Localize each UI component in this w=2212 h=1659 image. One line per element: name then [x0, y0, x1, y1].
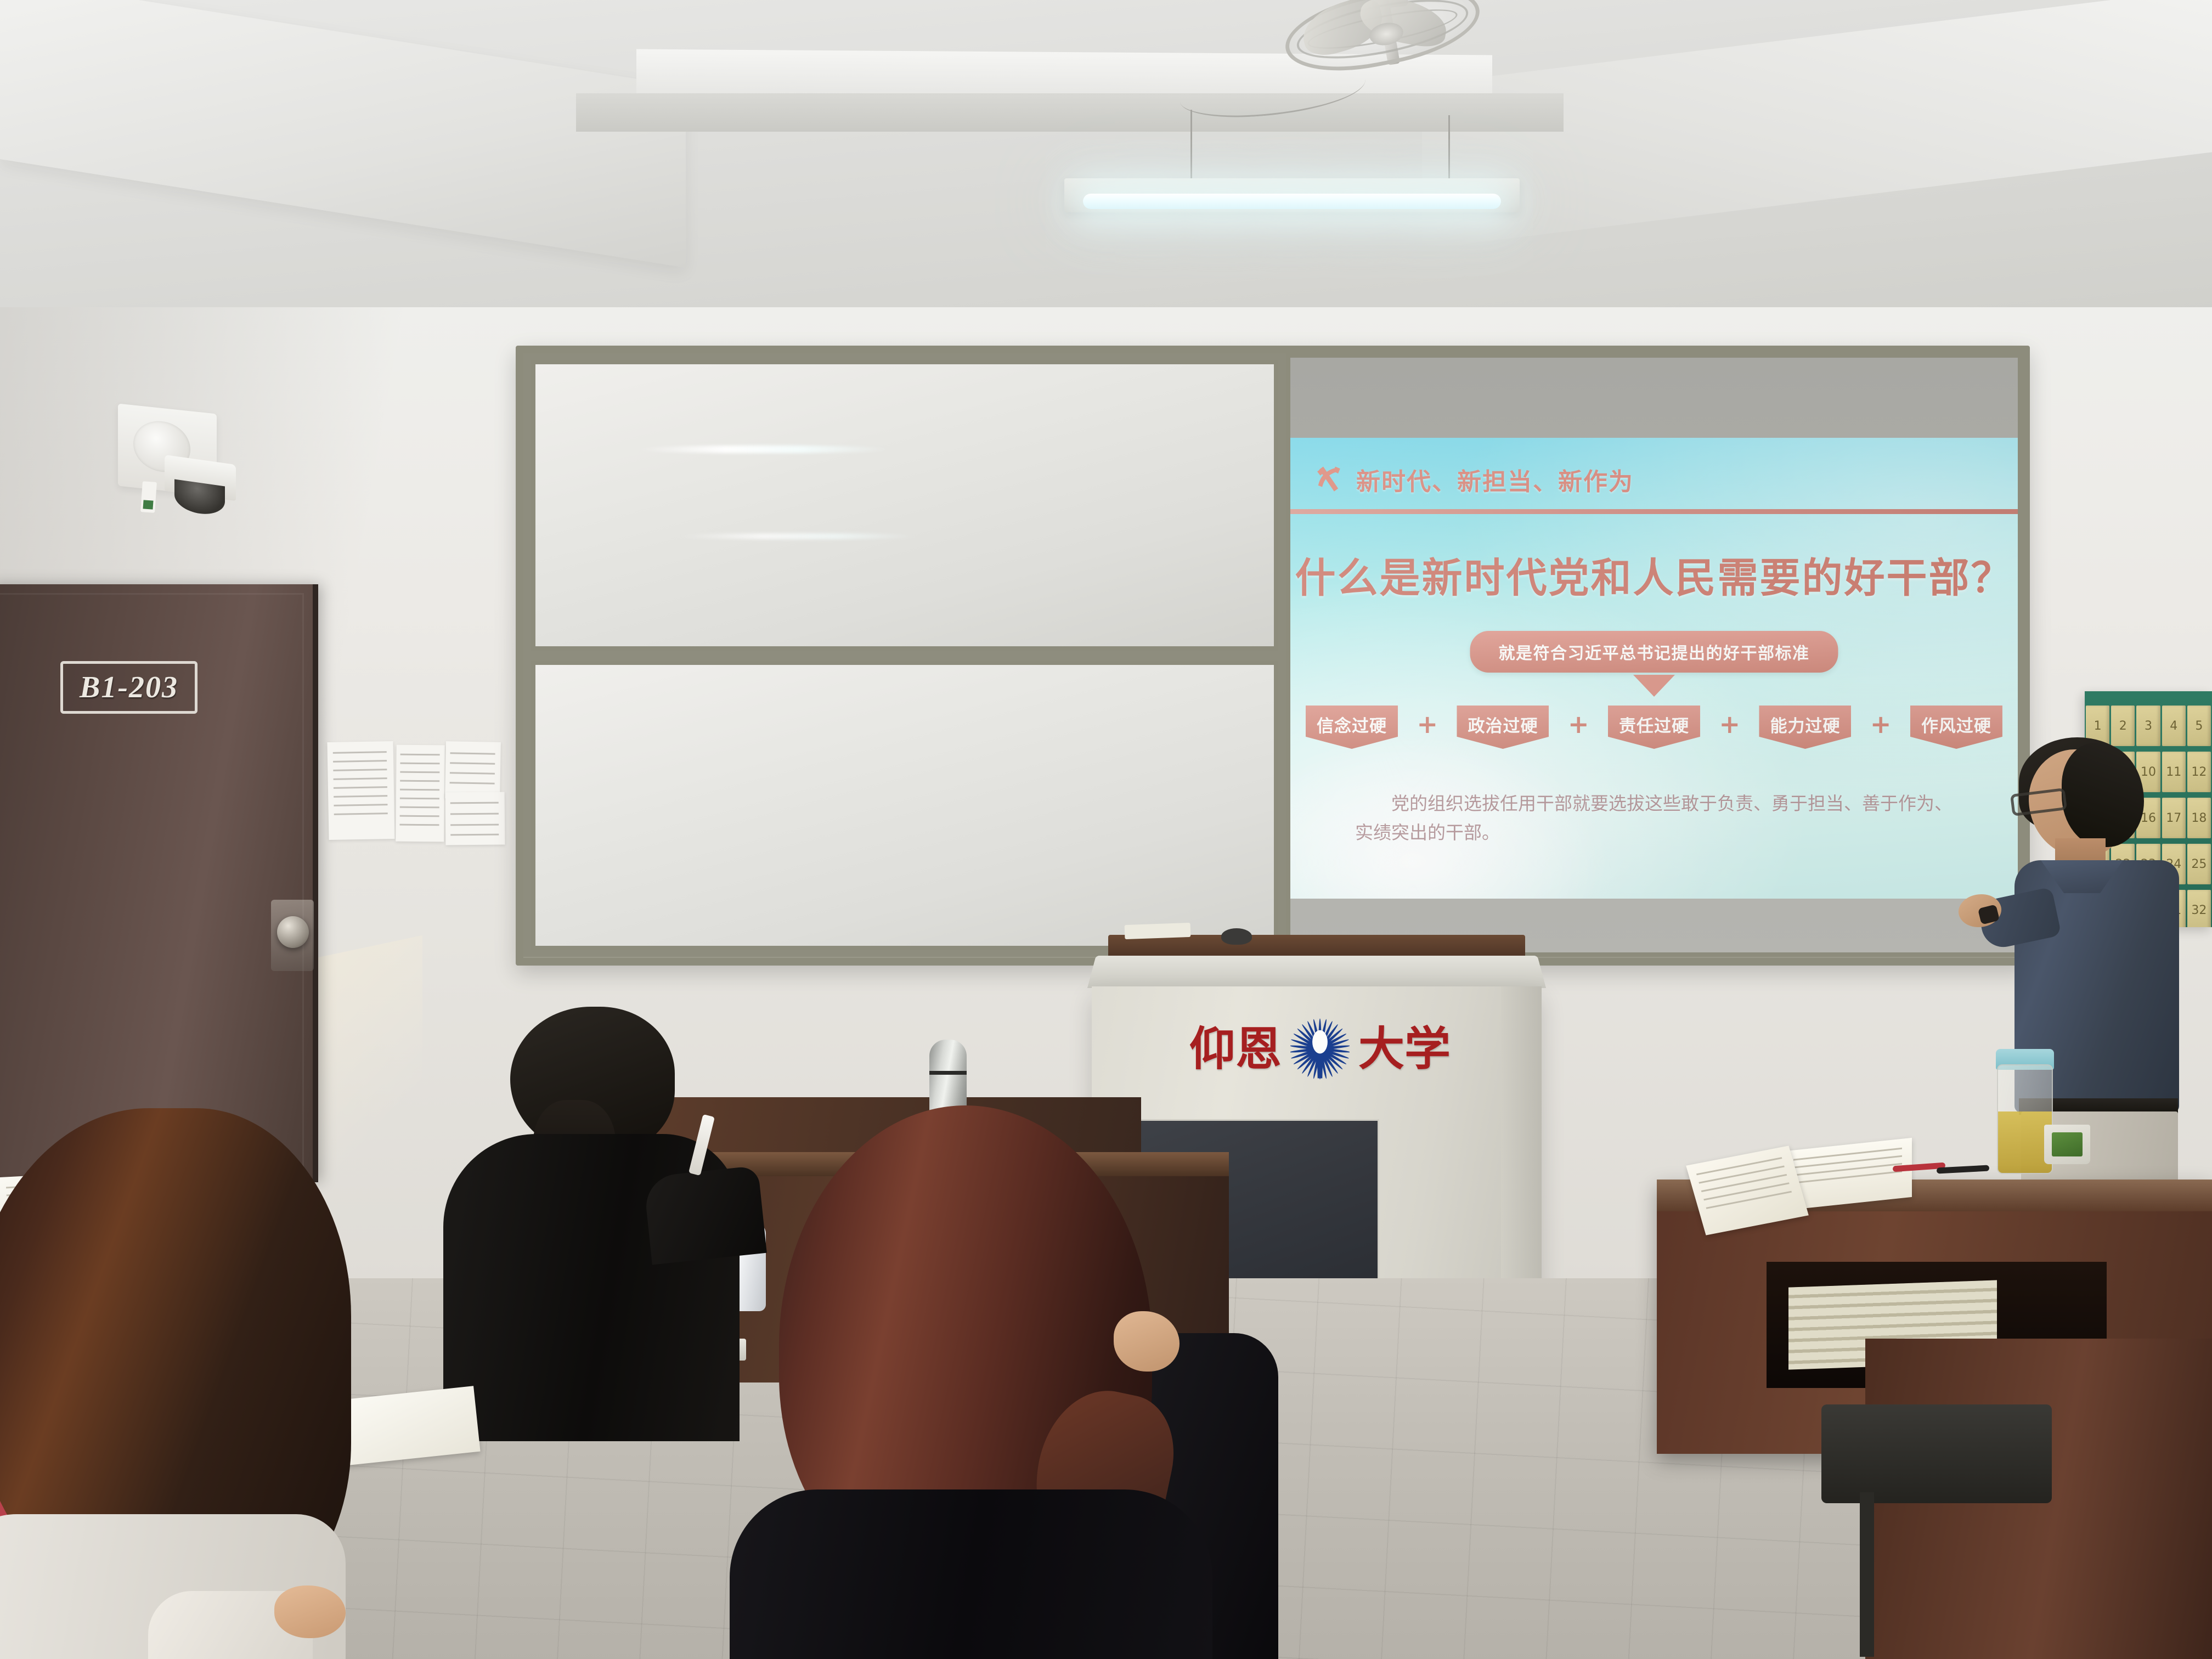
room-number-sign: B1-203 — [60, 661, 198, 714]
whiteboard-panel-upper[interactable] — [531, 360, 1278, 651]
chair-right[interactable] — [1821, 1404, 2052, 1503]
slide-subtitle-pill: 就是符合习近平总书记提出的好干部标准 — [1470, 631, 1838, 673]
plus-sign: + — [1870, 712, 1892, 743]
book-right-page — [1786, 1138, 1912, 1210]
whiteboard-left-section[interactable] — [523, 353, 1286, 957]
door-knob[interactable] — [277, 916, 309, 948]
lamp-suspension-wire — [1448, 115, 1450, 185]
ceiling — [0, 0, 2212, 340]
presentation-slide: 新时代、新担当、新作为 什么是新时代党和人民需要的好干部？ 就是符合习近平总书记… — [1290, 438, 2018, 899]
whiteboard-panel-lower[interactable] — [531, 661, 1278, 950]
thermos-band — [929, 1071, 967, 1075]
criteria-tag: 政治过硬 — [1457, 706, 1549, 749]
plus-sign: + — [1719, 712, 1740, 743]
ceiling-beam-left — [0, 0, 686, 268]
criteria-tag: 责任过硬 — [1608, 706, 1700, 749]
open-textbook — [1695, 1141, 1915, 1229]
plus-sign: + — [1568, 712, 1589, 743]
classroom-scene: B1-203 — [0, 0, 2212, 1659]
plus-sign: + — [1417, 712, 1438, 743]
student-ponytail — [439, 1007, 746, 1424]
teacher-hair-back — [2062, 743, 2144, 847]
podium-worktop — [1087, 956, 1546, 988]
camera-tag — [140, 481, 157, 513]
slide-header: 新时代、新担当、新作为 — [1312, 462, 1634, 497]
cpc-hammer-sickle-icon — [1312, 464, 1344, 495]
criteria-row: 信念过硬 + 政治过硬 + 责任过硬 + 能力过硬 + 作风过硬 — [1306, 706, 2002, 749]
slide-header-label: 新时代、新担当、新作为 — [1356, 462, 1634, 497]
slide-header-rule — [1290, 509, 2018, 514]
university-name-right: 大学 — [1358, 1026, 1451, 1072]
lamp-suspension-wire — [1190, 110, 1192, 187]
student-dark-wavy-hair — [0, 1108, 395, 1659]
slide-title: 什么是新时代党和人民需要的好干部？ — [1290, 545, 2018, 604]
ceiling-soffit — [576, 93, 1564, 132]
podium-right-face — [1501, 986, 1542, 1327]
criteria-tag: 信念过硬 — [1306, 706, 1398, 749]
lamp-tube — [1083, 194, 1501, 209]
wall-notice — [327, 741, 394, 840]
room-number-label: B1-203 — [80, 670, 178, 705]
projection-screen[interactable]: 新时代、新担当、新作为 什么是新时代党和人民需要的好干部？ 就是符合习近平总书记… — [1286, 353, 2022, 957]
computer-mouse-icon[interactable] — [1221, 928, 1252, 945]
wall-notice — [445, 741, 501, 799]
fluorescent-tube-icon — [1064, 178, 1520, 212]
student-auburn-hair — [730, 1105, 1212, 1659]
wall-notice — [445, 792, 505, 845]
whiteboard-glare — [634, 445, 892, 453]
chevron-down-icon — [1633, 675, 1675, 697]
podium-paper — [1125, 923, 1191, 939]
whiteboard-glare — [678, 533, 919, 539]
criteria-tag: 能力过硬 — [1759, 706, 1851, 749]
book-left-page — [1686, 1145, 1809, 1235]
radial-sunburst-icon — [1290, 1015, 1350, 1083]
chair-leg — [1860, 1492, 1874, 1657]
whiteboard-unit: 新时代、新担当、新作为 什么是新时代党和人民需要的好干部？ 就是符合习近平总书记… — [516, 346, 2030, 966]
student-hand — [274, 1585, 346, 1638]
slide-body-paragraph: 党的组织选拔任用干部就要选拔这些敢于负责、勇于担当、善于作为、实绩突出的干部。 — [1355, 789, 1967, 848]
student-torso — [730, 1489, 1212, 1659]
wall-schedule-table — [396, 745, 445, 842]
university-branding: 仰恩 — [1144, 1016, 1496, 1082]
mug — [2044, 1125, 2090, 1164]
university-name-left: 仰恩 — [1189, 1026, 1282, 1072]
